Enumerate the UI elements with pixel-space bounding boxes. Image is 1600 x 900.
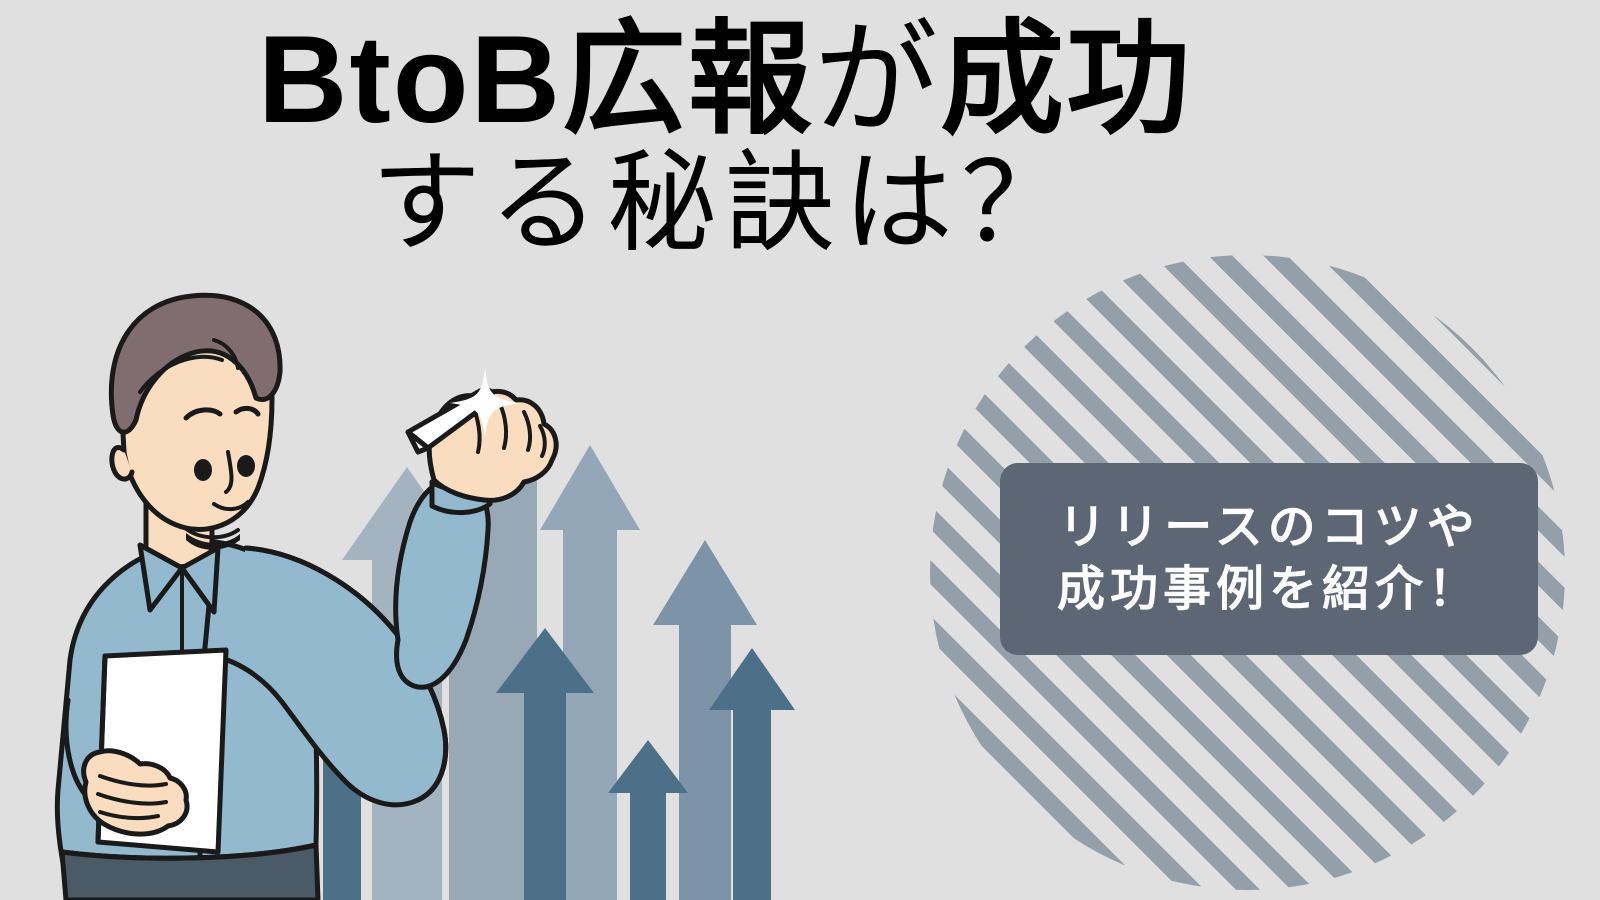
poster-canvas: BtoB広報が成功 する秘訣は？ リリースのコツや 成功事例を紹介！: [0, 0, 1600, 900]
sparkle-icon: [450, 368, 520, 438]
businessman-illustration: [0, 0, 1600, 900]
badge-line-1: リリースのコツや: [1058, 503, 1480, 553]
badge-line-2: 成功事例を紹介！: [1057, 565, 1481, 615]
subtitle-badge: リリースのコツや 成功事例を紹介！: [1000, 463, 1538, 655]
